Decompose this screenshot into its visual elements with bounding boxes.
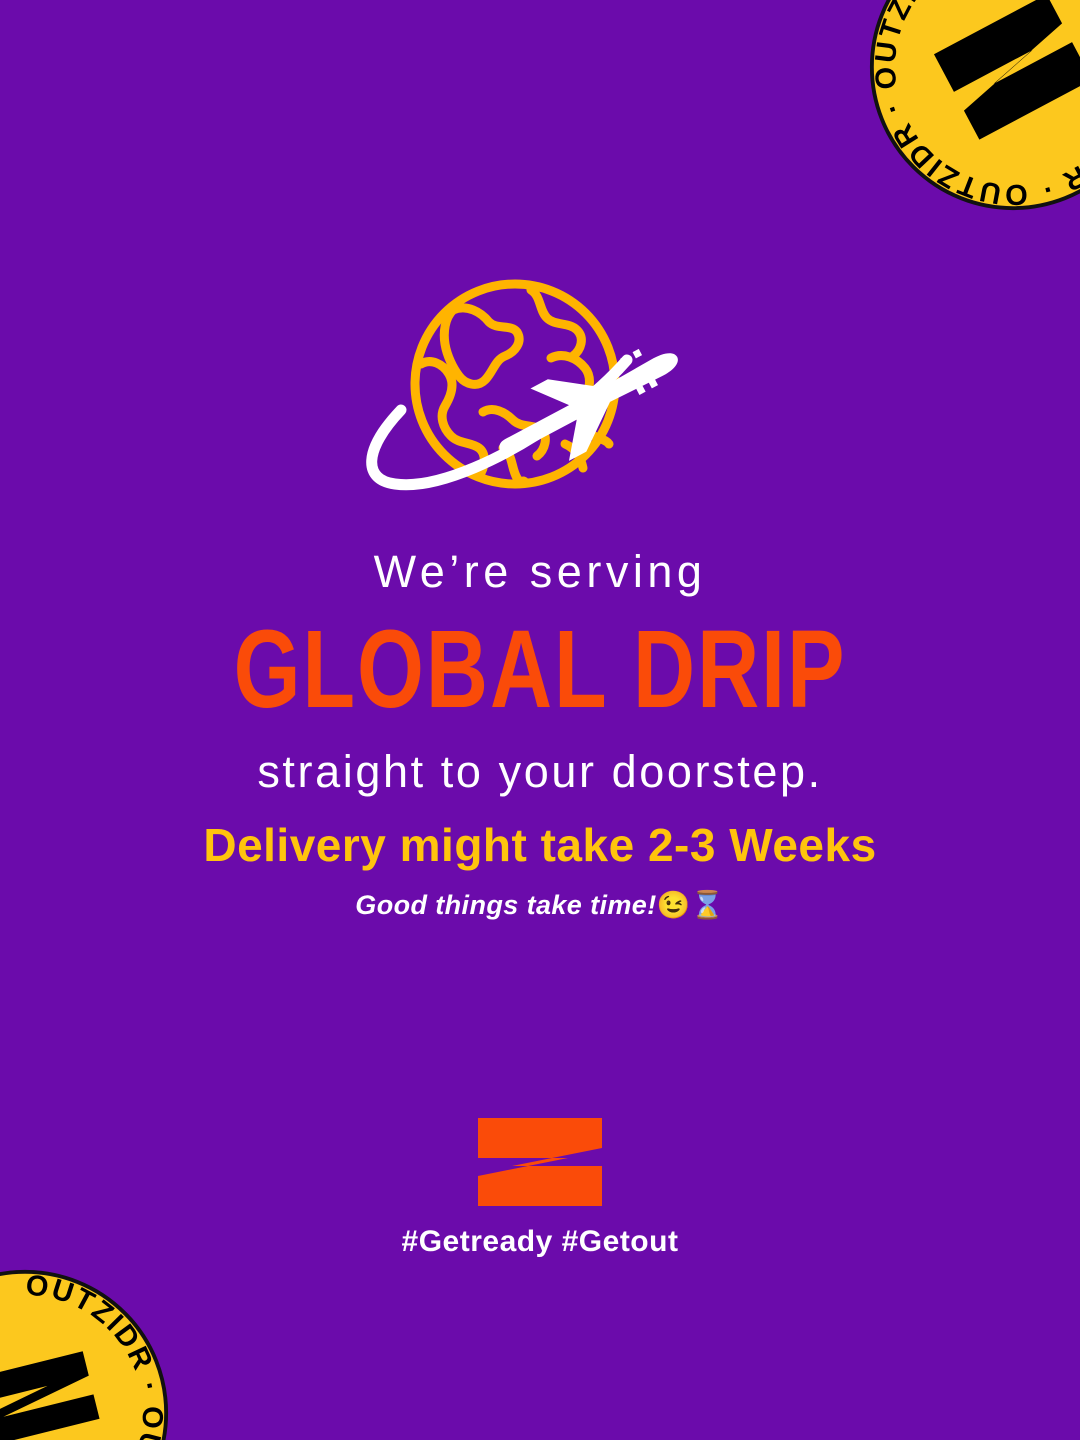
footer-hashtags: #Getready #Getout bbox=[0, 1225, 1080, 1259]
outzidr-z-logo bbox=[476, 1118, 604, 1206]
delivery-subtext: Good things take time!😉⌛ bbox=[0, 889, 1080, 921]
winking-face-emoji-icon: 😉 bbox=[657, 890, 691, 920]
headline-block: We’re serving GLOBAL DRIP straight to yo… bbox=[0, 548, 1080, 795]
promo-poster: We’re serving GLOBAL DRIP straight to yo… bbox=[0, 0, 1080, 1440]
delivery-subtext-label: Good things take time! bbox=[355, 890, 656, 920]
hourglass-emoji-icon: ⌛ bbox=[691, 890, 725, 920]
globe-airplane-illustration bbox=[355, 272, 715, 512]
outzidr-badge-top-right: OUTZIDR · OUTZIDR · OUTZIDR · OUTZIDR · bbox=[868, 0, 1080, 212]
globe-icon bbox=[415, 284, 615, 484]
outzidr-badge-bottom-left: OUTZIDR · OUTZIDR · OUTZIDR · OUTZIDR · … bbox=[0, 1268, 170, 1440]
headline-pre-text: We’re serving bbox=[0, 548, 1080, 595]
page-title: GLOBAL DRIP bbox=[0, 607, 1080, 734]
delivery-headline: Delivery might take 2-3 Weeks bbox=[0, 820, 1080, 871]
headline-post-text: straight to your doorstep. bbox=[0, 748, 1080, 795]
footer-block: #Getready #Getout bbox=[0, 1118, 1080, 1259]
delivery-notice-block: Delivery might take 2-3 Weeks Good thing… bbox=[0, 820, 1080, 921]
